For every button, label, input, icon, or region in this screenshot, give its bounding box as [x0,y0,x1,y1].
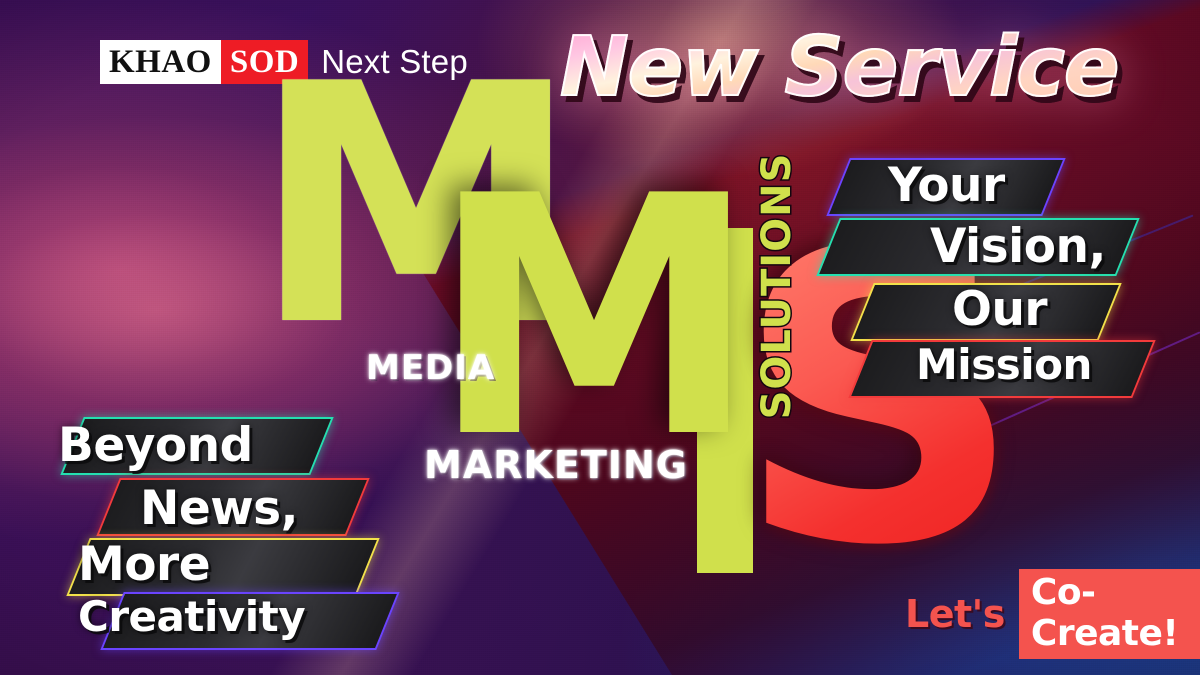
new-service-text: New Service [560,20,1118,115]
tagline-right-line-1: Your [888,158,1005,213]
tagline-right-line-2: Vision, [930,219,1106,274]
new-service-headline: New Service [560,20,1118,115]
label-solutions: SOLUTIONS [749,141,805,431]
promo-banner: KHAO SOD Next Step New Service M M S SOL… [0,0,1200,675]
cta-lets-text: Let's [905,592,1005,636]
tagline-left-line-2: News, [140,481,298,536]
tagline-left-line-1: Beyond [58,418,253,473]
big-letter-m-marketing: M [430,190,758,447]
label-marketing: MARKETING [424,443,688,487]
tagline-right-line-4: Mission [916,340,1092,389]
cta-lets-co-create[interactable]: Let's Co-Create! [905,592,1200,636]
cta-co-create-text: Co-Create! [1019,569,1200,659]
label-media: MEDIA [366,348,495,388]
tagline-left-line-3: More [78,537,210,592]
tagline-right-line-3: Our [952,282,1047,337]
tagline-left-line-4: Creativity [78,592,305,641]
logo-khao-text: KHAO [100,40,221,84]
